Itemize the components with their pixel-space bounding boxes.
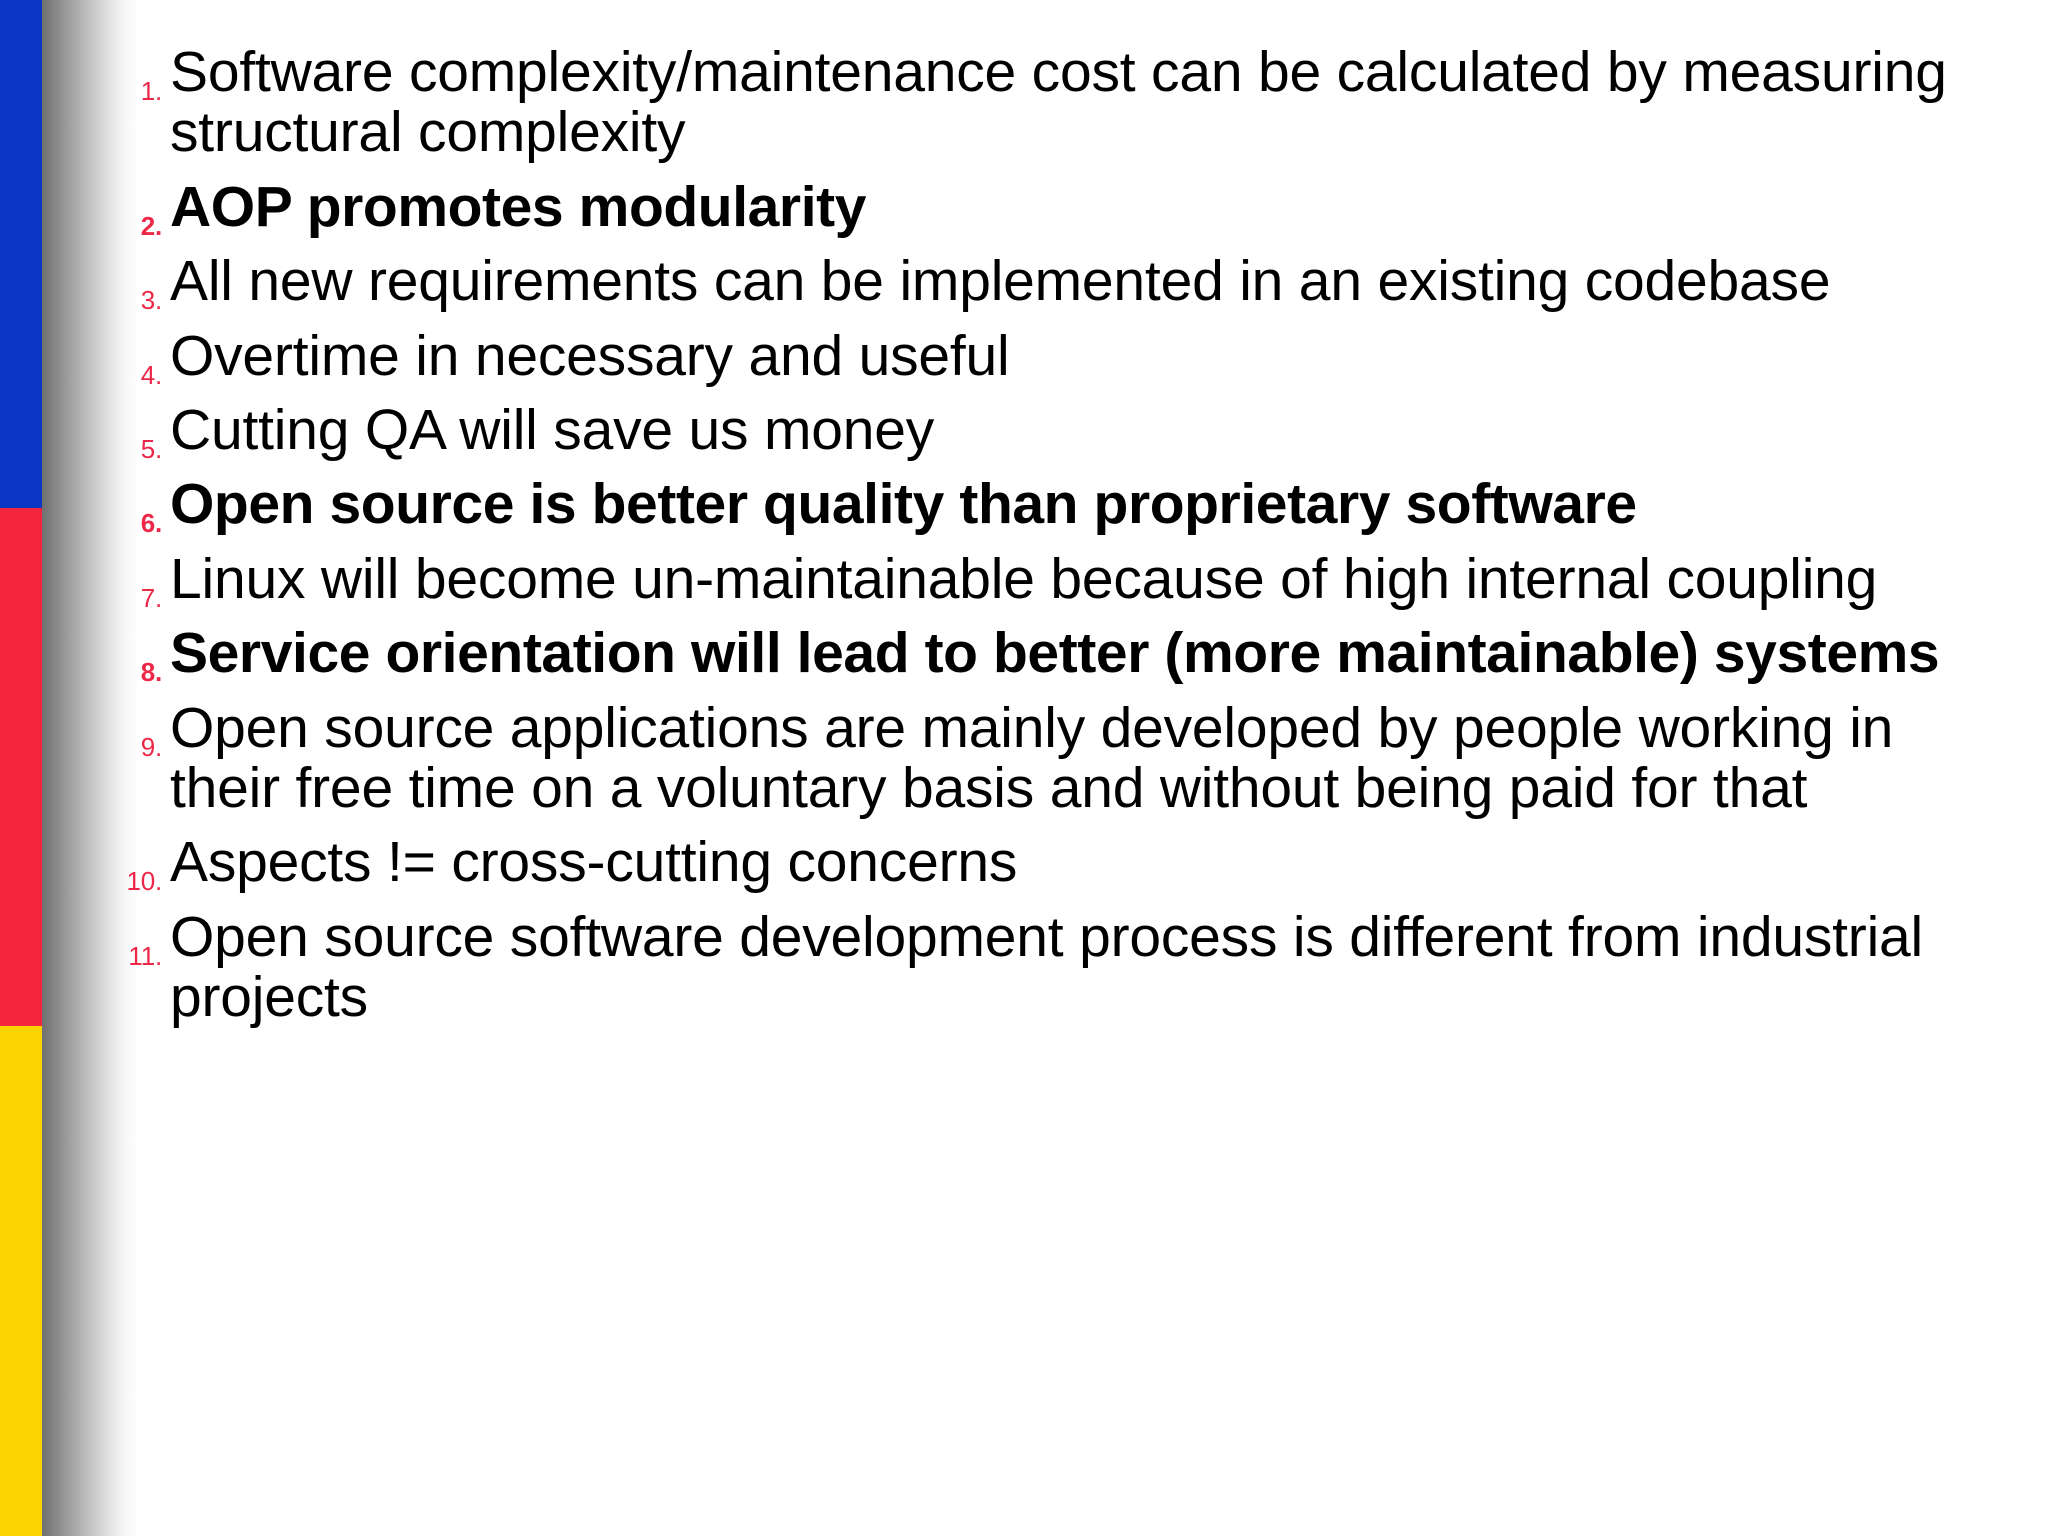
list-item-number: 9. <box>100 698 162 760</box>
list-item: 4. Overtime in necessary and useful <box>100 326 2000 386</box>
list-item-number: 2. <box>100 177 162 239</box>
list-item: 8. Service orientation will lead to bett… <box>100 623 2000 683</box>
list-item-text: Open source is better quality than propr… <box>170 474 2000 534</box>
list-item-text: Cutting QA will save us money <box>170 400 2000 460</box>
list-item-text: Open source software development process… <box>170 907 2000 1028</box>
list-item-number: 7. <box>100 549 162 611</box>
list-item-text: Overtime in necessary and useful <box>170 326 2000 386</box>
list-item: 11. Open source software development pro… <box>100 907 2000 1028</box>
numbered-list: 1. Software complexity/maintenance cost … <box>100 42 2000 1028</box>
list-item-text: Service orientation will lead to better … <box>170 623 2000 683</box>
list-item-number: 4. <box>100 326 162 388</box>
list-item: 7. Linux will become un-maintainable bec… <box>100 549 2000 609</box>
list-item-text: Software complexity/maintenance cost can… <box>170 42 2000 163</box>
list-item-text: Open source applications are mainly deve… <box>170 698 2000 819</box>
list-item-text: Aspects != cross-cutting concerns <box>170 832 2000 892</box>
accent-segment-yellow <box>0 1026 42 1536</box>
list-item-number: 6. <box>100 474 162 536</box>
list-item: 9. Open source applications are mainly d… <box>100 698 2000 819</box>
list-item: 6. Open source is better quality than pr… <box>100 474 2000 534</box>
list-item-number: 1. <box>100 42 162 104</box>
left-accent-bar <box>0 0 42 1536</box>
accent-segment-blue <box>0 0 42 508</box>
list-item: 10. Aspects != cross-cutting concerns <box>100 832 2000 892</box>
list-item-number: 11. <box>100 907 162 969</box>
list-item: 5. Cutting QA will save us money <box>100 400 2000 460</box>
slide-canvas: 1. Software complexity/maintenance cost … <box>0 0 2048 1536</box>
list-item-number: 8. <box>100 623 162 685</box>
list-item-number: 5. <box>100 400 162 462</box>
list-item: 2. AOP promotes modularity <box>100 177 2000 237</box>
list-item-text: All new requirements can be implemented … <box>170 251 2000 311</box>
list-item: 3. All new requirements can be implement… <box>100 251 2000 311</box>
accent-segment-red <box>0 508 42 1026</box>
slide-content: 1. Software complexity/maintenance cost … <box>100 42 2000 1028</box>
list-item-number: 3. <box>100 251 162 313</box>
list-item-text: Linux will become un-maintainable becaus… <box>170 549 2000 609</box>
list-item-text: AOP promotes modularity <box>170 177 2000 237</box>
list-item: 1. Software complexity/maintenance cost … <box>100 42 2000 163</box>
list-item-number: 10. <box>100 832 162 894</box>
